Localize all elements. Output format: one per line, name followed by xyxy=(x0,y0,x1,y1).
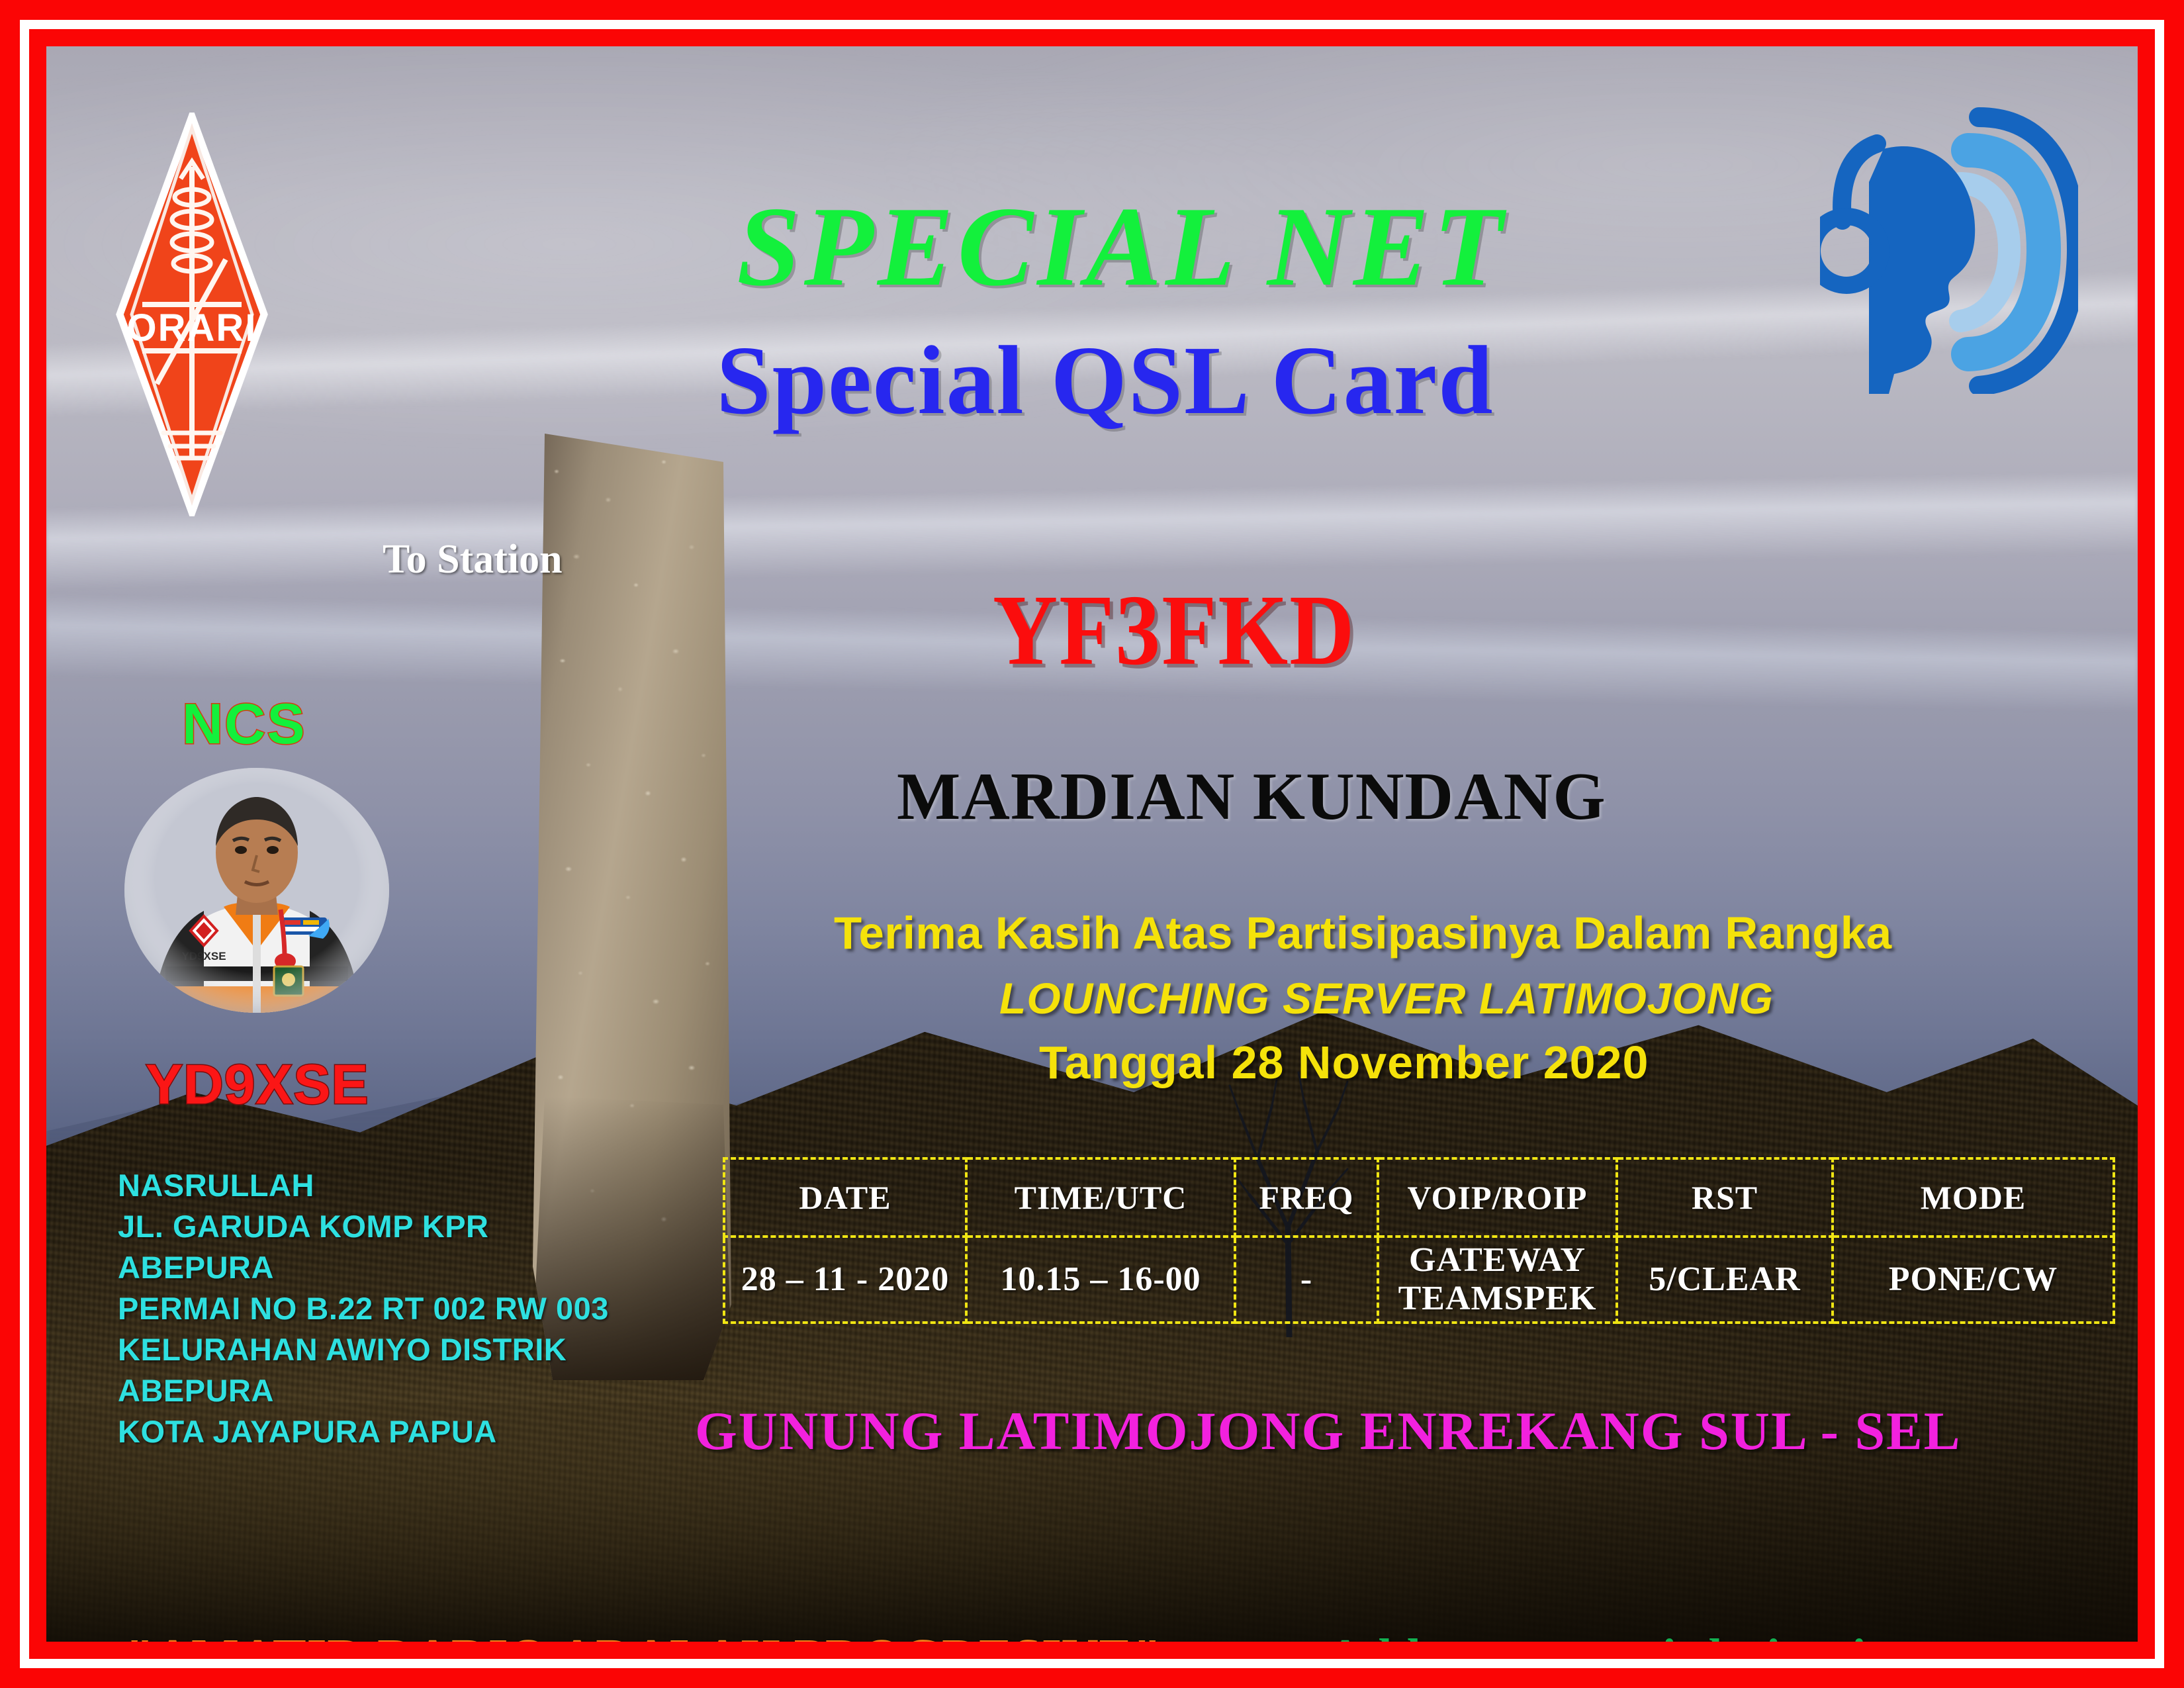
address-line: ABEPURA xyxy=(118,1370,609,1411)
address-line: ABEPURA xyxy=(118,1247,609,1288)
to-station-label: To Station xyxy=(383,536,563,583)
ncs-callsign: YD9XSE xyxy=(146,1053,369,1117)
station-callsign: YF3FKD xyxy=(993,573,1355,688)
table-cell-rst: 5/CLEAR xyxy=(1617,1237,1833,1323)
qsl-card-white-gap: ORARI xyxy=(20,20,2164,1668)
table-cell-voip-line-1: GATEWAY xyxy=(1380,1241,1615,1280)
page-title-special-net: SPECIAL NET xyxy=(46,182,2138,312)
qsl-card-photo-stage: ORARI xyxy=(46,46,2138,1642)
thanks-line-2-event: LOUNCHING SERVER LATIMOJONG xyxy=(999,973,1774,1023)
table-header-rst: RST xyxy=(1617,1158,1833,1237)
table-header-row: DATE TIME/UTC FREQ VOIP/ROIP RST MODE xyxy=(724,1158,2114,1237)
qso-log-table: DATE TIME/UTC FREQ VOIP/ROIP RST MODE 28… xyxy=(723,1157,2115,1324)
table-cell-voip-roip: GATEWAY TEAMSPEK xyxy=(1378,1237,1617,1323)
station-operator-name: MARDIAN KUNDANG xyxy=(897,758,1606,835)
table-header-freq: FREQ xyxy=(1235,1158,1378,1237)
thanks-line-1: Terima Kasih Atas Partisipasinya Dalam R… xyxy=(834,907,1892,959)
table-cell-voip-line-2: TEAMSPEK xyxy=(1380,1280,1615,1318)
address-block: NASRULLAH JL. GARUDA KOMP KPR ABEPURA PE… xyxy=(118,1165,609,1452)
thanks-line-3-date: Tanggal 28 November 2020 xyxy=(1039,1036,1649,1089)
address-line: KOTA JAYAPURA PAPUA xyxy=(118,1411,609,1452)
address-line: JL. GARUDA KOMP KPR xyxy=(118,1206,609,1247)
table-header-mode: MODE xyxy=(1833,1158,2114,1237)
table-header-time: TIME/UTC xyxy=(966,1158,1235,1237)
footer-motto: "AMATIR RADIO ADALAH PROGRESIVE" xyxy=(126,1628,1161,1642)
qsl-card-outer-frame: ORARI xyxy=(0,0,2184,1688)
table-cell-freq: - xyxy=(1235,1237,1378,1323)
page-subtitle-qsl-card: Special QSL Card xyxy=(46,324,2138,437)
ncs-portrait-illustration: YD9XSE xyxy=(124,768,389,1013)
table-row: 28 – 11 - 2020 10.15 – 16-00 - GATEWAY T… xyxy=(724,1237,2114,1323)
ncs-label: NCS xyxy=(182,692,306,757)
table-cell-mode: PONE/CW xyxy=(1833,1237,2114,1323)
orari-logo: ORARI xyxy=(116,113,268,516)
footer-web-address: Address : amatir.latimojong.com xyxy=(1327,1628,2052,1642)
qsl-card-inner-frame: ORARI xyxy=(29,29,2155,1659)
table-header-voip-roip: VOIP/ROIP xyxy=(1378,1158,1617,1237)
location-line: GUNUNG LATIMOJONG ENREKANG SUL - SEL xyxy=(695,1400,1961,1462)
table-header-date: DATE xyxy=(724,1158,966,1237)
address-line: NASRULLAH xyxy=(118,1165,609,1206)
address-line: PERMAI NO B.22 RT 002 RW 003 xyxy=(118,1288,609,1329)
ncs-operator-photo: YD9XSE xyxy=(124,768,389,1013)
table-cell-time: 10.15 – 16-00 xyxy=(966,1237,1235,1323)
table-cell-date: 28 – 11 - 2020 xyxy=(724,1237,966,1323)
address-line: KELURAHAN AWIYO DISTRIK xyxy=(118,1329,609,1370)
